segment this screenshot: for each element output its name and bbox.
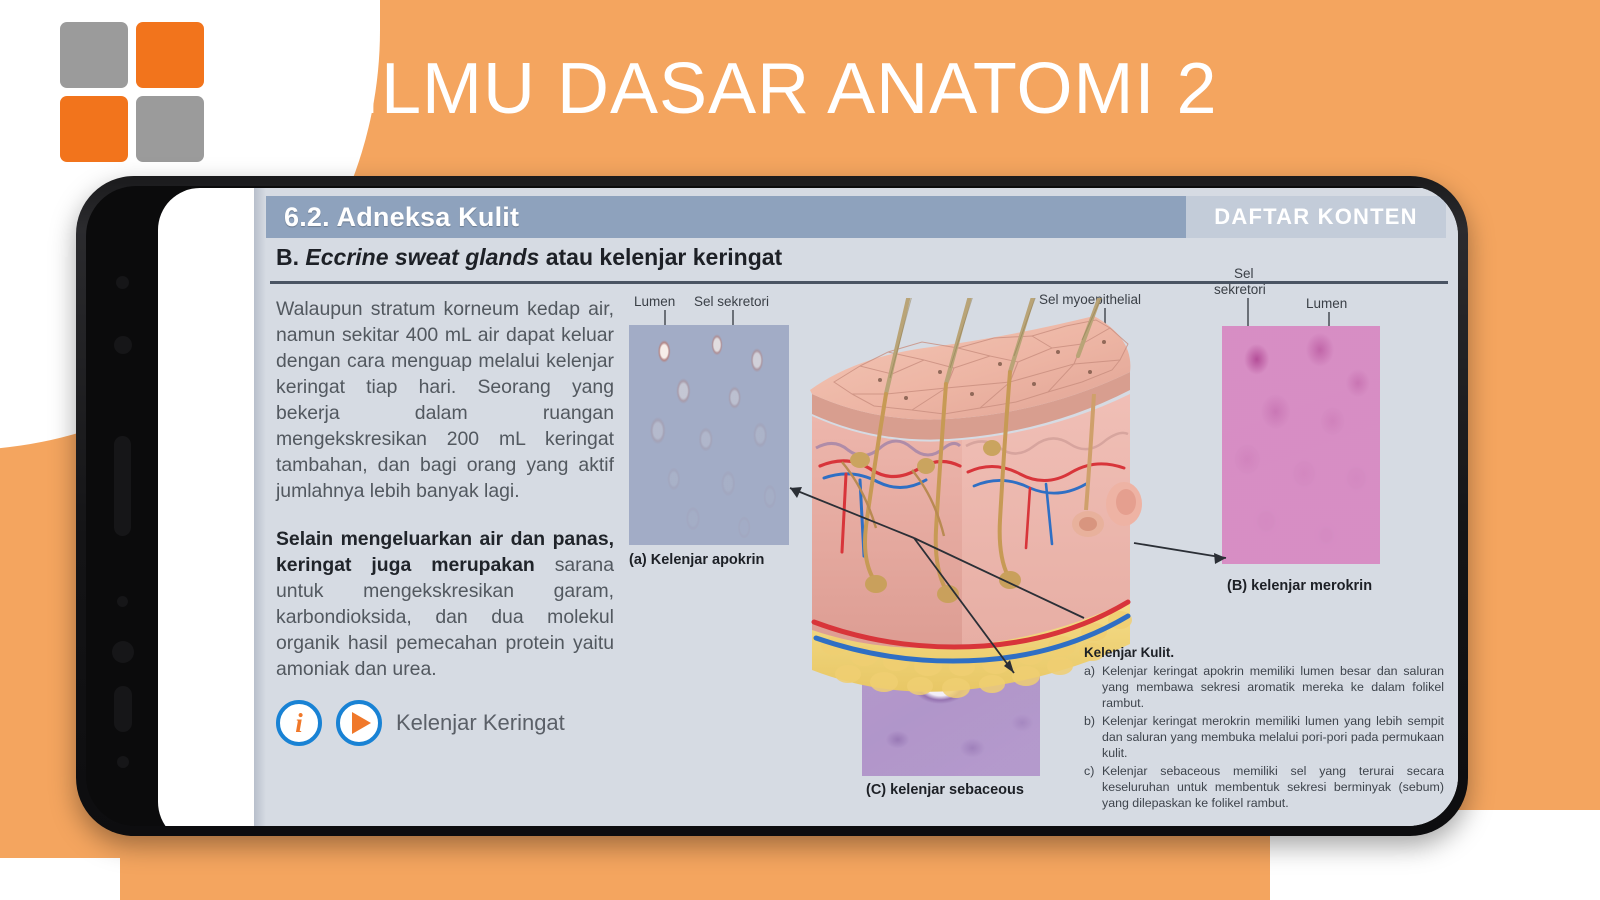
- kelenjar-kulit-item-text: Kelenjar keringat apokrin memiliki lumen…: [1102, 663, 1444, 711]
- phone-bottom-dot: [117, 756, 129, 768]
- kelenjar-kulit-item-text: Kelenjar keringat merokrin memiliki lume…: [1102, 713, 1444, 761]
- white-corner-bottom-left: [0, 858, 120, 900]
- promo-stage: ILMU DASAR ANATOMI 2 6.2. Adneksa Kulit: [0, 0, 1600, 900]
- kelenjar-kulit-item: a) Kelenjar keringat apokrin memiliki lu…: [1084, 663, 1444, 711]
- page-gutter: [254, 188, 266, 826]
- phone-side-button: [114, 436, 131, 536]
- kelenjar-kulit-item-text: Kelenjar sebaceous memiliki sel yang ter…: [1102, 763, 1444, 811]
- media-row: i Kelenjar Keringat: [276, 700, 565, 746]
- phone-home-dot: [112, 641, 134, 663]
- play-button[interactable]: [336, 700, 382, 746]
- ebook-page: 6.2. Adneksa Kulit DAFTAR KONTEN B. Eccr…: [254, 188, 1458, 826]
- phone-sensor-dot: [116, 276, 129, 289]
- paragraph-2: Selain mengeluarkan air dan panas, kerin…: [276, 526, 614, 682]
- media-label: Kelenjar Keringat: [396, 710, 565, 736]
- daftar-konten-button[interactable]: DAFTAR KONTEN: [1186, 196, 1446, 238]
- subtitle-prefix: B.: [276, 244, 305, 270]
- kelenjar-kulit-item-key: b): [1084, 713, 1097, 761]
- paragraph-1: Walaupun stratum korneum kedap air, namu…: [276, 296, 614, 504]
- kelenjar-kulit-item-key: a): [1084, 663, 1097, 711]
- logo-square-bottom-right: [136, 96, 204, 162]
- kelenjar-kulit-title: Kelenjar Kulit.: [1084, 645, 1444, 661]
- phone-mic-dot: [117, 596, 128, 607]
- section-divider: [270, 281, 1448, 284]
- play-icon: [352, 712, 371, 734]
- logo-square-top-right: [136, 22, 204, 88]
- label-sel-sekretori-right-1: Sel: [1234, 266, 1254, 281]
- phone-camera-dot: [114, 336, 132, 354]
- phone-mockup: 6.2. Adneksa Kulit DAFTAR KONTEN B. Eccr…: [76, 176, 1468, 836]
- chapter-title: 6.2. Adneksa Kulit: [266, 202, 519, 233]
- subtitle-italic: Eccrine sweat glands: [305, 244, 539, 270]
- daftar-konten-label: DAFTAR KONTEN: [1214, 204, 1417, 230]
- logo-square-top-left: [60, 22, 128, 88]
- chapter-titlebar: 6.2. Adneksa Kulit DAFTAR KONTEN: [266, 196, 1446, 238]
- figure-area: Lumen Sel sekretori (a) Kelenjar apokrin…: [614, 288, 1444, 826]
- kelenjar-kulit-item: b) Kelenjar keringat merokrin memiliki l…: [1084, 713, 1444, 761]
- section-subtitle: B. Eccrine sweat glands atau kelenjar ke…: [276, 244, 1436, 271]
- banner-title: ILMU DASAR ANATOMI 2: [360, 48, 1218, 130]
- phone-screen: 6.2. Adneksa Kulit DAFTAR KONTEN B. Eccr…: [158, 188, 1458, 826]
- body-text-column: Walaupun stratum korneum kedap air, namu…: [276, 296, 614, 704]
- info-icon: i: [295, 710, 303, 737]
- phone-body: 6.2. Adneksa Kulit DAFTAR KONTEN B. Eccr…: [86, 186, 1458, 826]
- info-button[interactable]: i: [276, 700, 322, 746]
- kelenjar-kulit-item-key: c): [1084, 763, 1097, 811]
- logo-square-bottom-left: [60, 96, 128, 162]
- kelenjar-kulit-block: Kelenjar Kulit. a) Kelenjar keringat apo…: [1084, 645, 1444, 813]
- phone-speaker-slot: [114, 686, 132, 732]
- app-logo: [60, 22, 210, 170]
- subtitle-suffix: atau kelenjar keringat: [539, 244, 782, 270]
- kelenjar-kulit-item: c) Kelenjar sebaceous memiliki sel yang …: [1084, 763, 1444, 811]
